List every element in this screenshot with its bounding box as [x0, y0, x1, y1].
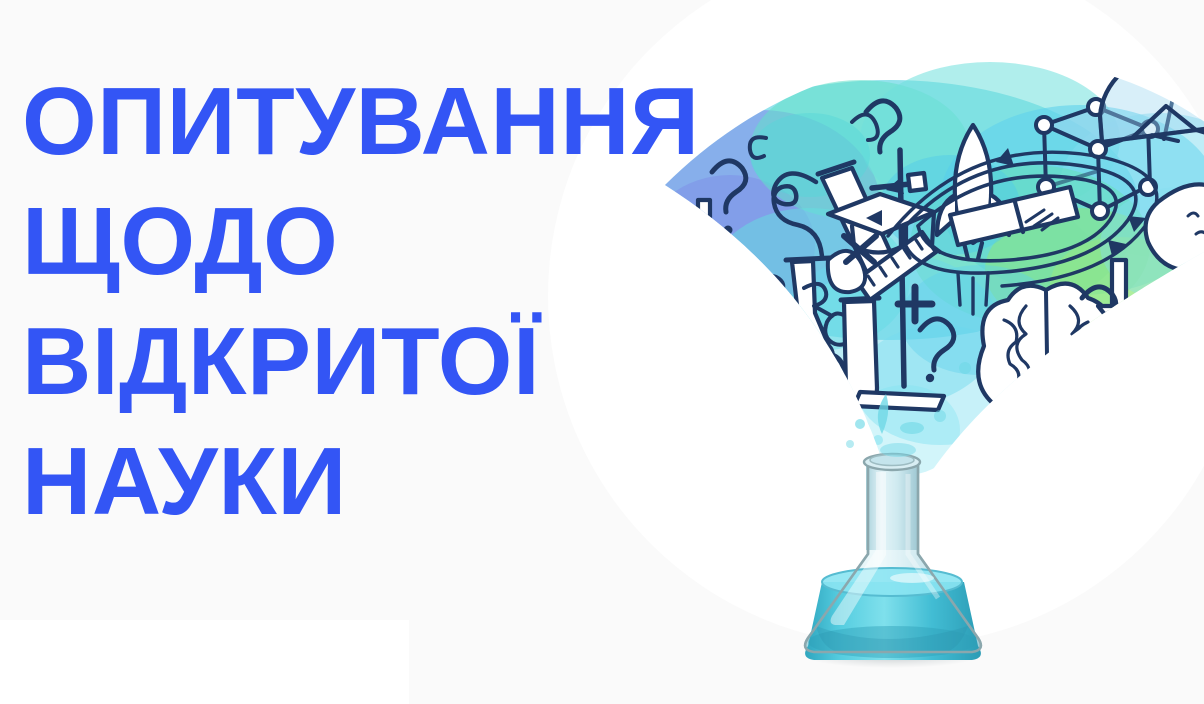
protractor-icon — [1100, 57, 1204, 142]
mushroom-icon — [1012, 396, 1084, 460]
erlenmeyer-flask — [800, 454, 984, 668]
earth-cross-section-icon — [1110, 318, 1204, 442]
test-tube-icon — [841, 298, 879, 406]
background-white-rectangle — [0, 620, 409, 704]
dna-helix-icon — [770, 342, 843, 446]
headline-line-1: ОПИТУВАННЯ — [22, 62, 682, 182]
headline-line-3: ВІДКРИТОЇ — [22, 302, 682, 422]
poster-headline: ОПИТУВАННЯ ЩОДО ВІДКРИТОЇ НАУКИ — [22, 62, 682, 542]
atom-icon — [733, 412, 862, 536]
headline-line-4: НАУКИ — [22, 422, 682, 542]
brain-icon — [978, 284, 1113, 423]
poster-canvas: ОПИТУВАННЯ ЩОДО ВІДКРИТОЇ НАУКИ — [0, 0, 1204, 704]
headline-line-2: ЩОДО — [22, 182, 682, 302]
